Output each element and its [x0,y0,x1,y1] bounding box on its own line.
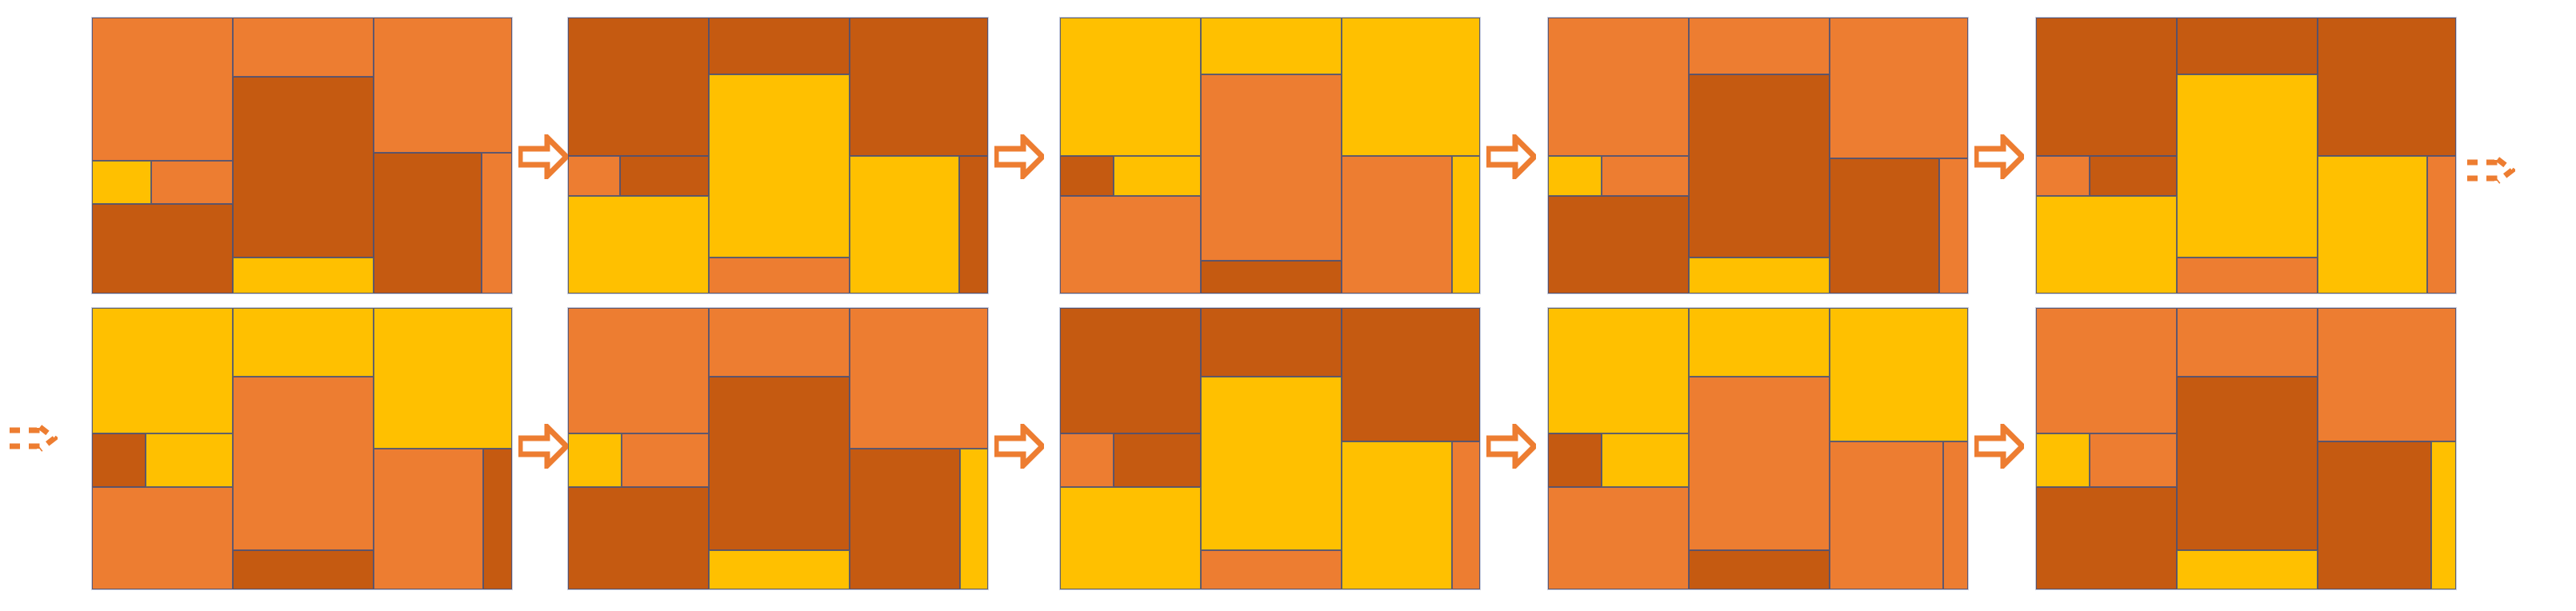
treemap-cell-triticale[interactable] [1548,18,1689,156]
treemap-cell-oats[interactable] [151,161,233,203]
treemap-column-1 [1548,18,1689,294]
treemap-cell-maize[interactable] [2177,18,2318,74]
treemap-column-1 [2036,18,2177,294]
treemap-cell-beans[interactable] [1830,308,1968,441]
treemap-cell-wheat[interactable] [1548,487,1689,589]
treemap-column-3 [1830,308,1968,589]
treemap-cell-barley[interactable] [1060,433,1114,487]
flow-arrow-top-4 [1974,134,2024,179]
treemap-cell-other-forage[interactable] [2036,196,2177,294]
treemap-panel-6[interactable] [92,308,512,589]
treemap-cell-maize[interactable] [568,18,709,156]
treemap-cell-beans[interactable] [2036,433,2090,487]
treemap-cell-potatoes[interactable] [233,258,374,294]
treemap-panel-3[interactable] [1060,18,1480,294]
treemap-cell-maize[interactable] [1689,74,1830,258]
flow-arrow-top-1 [518,134,568,179]
treemap-cell-maize[interactable] [1689,550,1830,589]
treemap-cell-beans[interactable] [568,433,622,487]
wrap-arrow-in [8,416,58,461]
treemap-panel-9[interactable] [1548,308,1968,589]
treemap-cell-rapeseed[interactable] [1342,441,1453,589]
treemap-column-1 [568,308,709,589]
treemap-cell-rapeseed[interactable] [709,74,850,258]
treemap-cell-wheat[interactable] [1689,18,1830,74]
treemap-cell-maize[interactable] [620,156,709,196]
treemap-cell-maize[interactable] [483,449,512,589]
treemap-panel-5[interactable] [2036,18,2456,294]
treemap-column-2 [2177,308,2318,589]
treemap-column-1 [1060,308,1201,589]
treemap-column-3 [1830,18,1968,294]
treemap-cell-wheat[interactable] [233,377,374,549]
treemap-column-1 [92,18,233,294]
treemap-cell-rapeseed[interactable] [1548,156,1602,196]
treemap-cell-potatoes[interactable] [1689,308,1830,377]
treemap-cell-rapeseed[interactable] [1342,18,1480,156]
treemap-column-1 [2036,308,2177,589]
flow-arrow-bottom-3 [1486,424,1536,469]
treemap-cell-maize[interactable] [1201,261,1342,294]
treemap-cell-potatoes[interactable] [850,156,959,294]
treemap-cell-maize[interactable] [1548,433,1602,487]
treemap-cell-rapeseed[interactable] [2177,74,2318,258]
treemap-panel-8[interactable] [1060,308,1480,589]
treemap-cell-wheat[interactable] [2177,258,2318,294]
treemap-cell-barley[interactable] [1060,196,1201,294]
treemap-column-1 [568,18,709,294]
treemap-cell-oats[interactable] [2036,156,2090,196]
treemap-cell-rapeseed[interactable] [1689,258,1830,294]
treemap-cell-beans[interactable] [1201,18,1342,74]
treemap-cell-wheat[interactable] [1342,156,1453,294]
flow-arrow-bottom-2 [994,424,1044,469]
treemap-cell-maize[interactable] [1548,196,1689,294]
treemap-cell-maize[interactable] [959,156,988,294]
treemap-panel-10[interactable] [2036,308,2456,589]
treemap-cell-wheat[interactable] [709,308,850,377]
treemap-cell-other[interactable] [1939,158,1968,294]
treemap-cell-potatoes[interactable] [1114,156,1201,196]
treemap-cell-rye[interactable] [2427,156,2456,294]
treemap-cell-rapeseed[interactable] [92,161,151,203]
treemap-column-3 [850,308,988,589]
treemap-sequence-figure [0,0,2576,611]
treemap-cell-barley[interactable] [568,156,620,196]
treemap-cell-wheat[interactable] [92,487,233,589]
treemap-cell-maize[interactable] [709,377,850,549]
treemap-cell-barley[interactable] [1689,377,1830,549]
flow-arrow-top-3 [1486,134,1536,179]
treemap-cell-barley[interactable] [1943,441,1968,589]
treemap-cell-oats[interactable] [1452,441,1480,589]
treemap-column-2 [709,308,850,589]
wrap-arrow-out [2466,148,2515,193]
treemap-column-2 [2177,18,2318,294]
treemap-cell-rapeseed[interactable] [2318,156,2427,294]
treemap-cell-maize[interactable] [568,487,709,589]
treemap-cell-oats[interactable] [2318,308,2456,441]
treemap-column-3 [2318,18,2456,294]
treemap-cell-wheat[interactable] [2177,308,2318,377]
treemap-cell-maize[interactable] [2090,156,2177,196]
treemap-cell-maize[interactable] [2036,487,2177,589]
treemap-column-2 [233,18,374,294]
treemap-column-2 [1201,18,1342,294]
treemap-column-1 [1060,18,1201,294]
treemap-cell-maize[interactable] [1830,158,1939,294]
treemap-column-3 [374,18,512,294]
treemap-column-3 [1342,18,1480,294]
flow-arrow-bottom-1 [518,424,568,469]
treemap-cell-triticale[interactable] [1201,550,1342,589]
treemap-cell-beans[interactable] [1602,433,1689,487]
treemap-cell-maize[interactable] [2318,441,2431,589]
treemap-cell-maize[interactable] [2177,377,2318,549]
treemap-cell-wheat[interactable] [1830,441,1943,589]
treemap-cell-barley[interactable] [374,18,512,153]
treemap-cell-maize[interactable] [1201,308,1342,377]
treemap-cell-maize[interactable] [709,18,850,74]
treemap-panel-2[interactable] [568,18,988,294]
treemap-cell-beans[interactable] [2431,441,2456,589]
treemap-column-2 [1201,308,1342,589]
treemap-cell-rapeseed[interactable] [568,196,709,294]
treemap-cell-beans[interactable] [2177,550,2318,589]
treemap-column-1 [92,308,233,589]
treemap-column-2 [709,18,850,294]
treemap-cell-beans[interactable] [960,449,988,589]
treemap-column-2 [233,308,374,589]
treemap-cell-wheat[interactable] [850,308,988,449]
treemap-cell-potatoes[interactable] [1060,487,1201,589]
treemap-column-3 [1342,308,1480,589]
treemap-cell-maize[interactable] [92,204,233,294]
treemap-cell-maize[interactable] [2318,18,2456,156]
treemap-column-2 [1689,308,1830,589]
treemap-cell-maize[interactable] [1060,308,1201,433]
treemap-cell-rapeseed[interactable] [146,433,233,487]
treemap-panel-7[interactable] [568,308,988,589]
treemap-cell-potatoes[interactable] [92,308,233,433]
treemap-cell-maize[interactable] [850,449,961,589]
treemap-cell-barley[interactable] [2036,308,2177,433]
treemap-cell-rapeseed[interactable] [1201,377,1342,549]
treemap-cell-rapeseed[interactable] [374,308,512,449]
treemap-column-3 [850,18,988,294]
treemap-cell-triticale[interactable] [568,308,709,433]
treemap-cell-other-forage[interactable] [1452,156,1480,294]
treemap-column-3 [2318,308,2456,589]
treemap-cell-maize[interactable] [374,153,482,294]
treemap-panel-4[interactable] [1548,18,1968,294]
treemap-cell-maize[interactable] [850,18,988,156]
treemap-column-2 [1689,18,1830,294]
treemap-cell-wheat[interactable] [1602,156,1689,196]
treemap-cell-rye[interactable] [482,153,512,294]
treemap-cell-maize[interactable] [233,550,374,589]
treemap-cell-maize[interactable] [1060,156,1114,196]
treemap-cell-rapeseed[interactable] [1060,18,1201,156]
treemap-column-3 [374,308,512,589]
treemap-cell-barley[interactable] [233,18,374,77]
treemap-cell-triticale[interactable] [374,449,483,589]
treemap-cell-triticale[interactable] [622,433,709,487]
treemap-cell-barley[interactable] [92,18,233,161]
treemap-cell-maize[interactable] [2036,18,2177,156]
treemap-cell-rye[interactable] [2090,433,2177,487]
flow-arrow-top-2 [994,134,1044,179]
treemap-cell-wheat[interactable] [1201,74,1342,261]
treemap-cell-rapeseed[interactable] [1548,308,1689,433]
flow-arrow-bottom-4 [1974,424,2024,469]
treemap-cell-other-forage[interactable] [709,550,850,589]
treemap-column-1 [1548,308,1689,589]
treemap-cell-potatoes[interactable] [233,308,374,377]
treemap-cell-maize[interactable] [233,77,374,258]
treemap-cell-barley[interactable] [709,258,850,294]
treemap-cell-maize[interactable] [92,433,146,487]
treemap-cell-wheat[interactable] [1830,18,1968,158]
treemap-panel-1[interactable] [92,18,512,294]
treemap-cell-maize[interactable] [1342,308,1480,441]
treemap-cell-maize[interactable] [1114,433,1201,487]
